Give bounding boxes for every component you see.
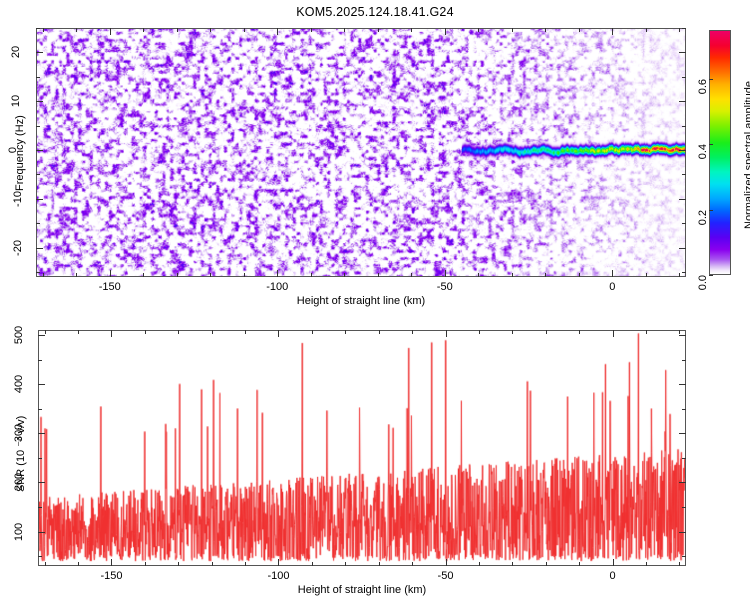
snr-y-tick-label: 400 [13,375,25,393]
y-minor-tick [36,272,40,273]
colorbar-tick [709,275,713,276]
x-major-tick-top [277,28,278,35]
y-major-tick [36,199,43,200]
colorbar-tick-label: 0.4 [697,144,709,159]
x-major-tick-top [110,28,111,35]
x-minor-tick-top [646,330,647,334]
x-major-tick [445,270,446,277]
snr-y-tick-label: 100 [13,522,25,540]
snr-x-tick-label: -150 [100,570,122,582]
y-major-tick [38,532,45,533]
x-minor-tick [212,562,213,566]
y-major-tick [36,101,43,102]
colorbar-tick-label: 0.0 [697,275,709,290]
x-minor-tick [45,562,46,566]
x-minor-tick-top [76,28,77,32]
y-minor-tick [36,174,40,175]
x-major-tick [111,559,112,566]
spec-x-tick-label: 0 [609,281,615,293]
x-major-tick [278,559,279,566]
snr-canvas [39,331,685,565]
x-minor-tick-top [45,330,46,334]
x-minor-tick-top [512,28,513,32]
x-minor-tick-top [478,28,479,32]
x-minor-tick-top [379,330,380,334]
snr-x-tick-label: -100 [267,570,289,582]
colorbar[interactable] [709,30,731,275]
spec-x-tick-label: -50 [437,281,453,293]
x-minor-tick-top [579,28,580,32]
snr-y-axis-title: SNR (10 ⁻⁶ v/v) [14,416,27,492]
x-major-tick-top [612,28,613,35]
x-minor-tick [76,273,77,277]
x-minor-tick [646,273,647,277]
x-minor-tick [679,562,680,566]
x-minor-tick [546,562,547,566]
colorbar-tick-label: 0.6 [697,79,709,94]
y-minor-tick-right [682,556,686,557]
x-minor-tick-top [178,330,179,334]
x-minor-tick [143,273,144,277]
x-minor-tick-top [411,28,412,32]
x-minor-tick-top [479,330,480,334]
y-major-tick-right [679,384,686,385]
x-minor-tick-top [210,28,211,32]
x-minor-tick [646,562,647,566]
x-minor-tick-top [177,28,178,32]
y-major-tick [38,482,45,483]
y-minor-tick-right [682,77,686,78]
x-major-tick-top [613,330,614,337]
x-minor-tick-top [78,330,79,334]
snr-panel[interactable] [38,330,686,566]
x-minor-tick [478,273,479,277]
spectrogram-panel[interactable] [36,28,686,277]
x-major-tick [612,270,613,277]
spec-y-tick-label: 20 [10,46,22,58]
y-minor-tick [36,77,40,78]
x-major-tick [110,270,111,277]
x-minor-tick-top [345,330,346,334]
y-minor-tick-right [682,174,686,175]
x-minor-tick [378,273,379,277]
x-minor-tick [411,273,412,277]
spec-y-tick-label: 10 [10,95,22,107]
x-minor-tick [379,562,380,566]
y-major-tick-right [679,482,686,483]
spec-x-tick-label: -150 [99,281,121,293]
x-minor-tick [43,273,44,277]
y-minor-tick-right [682,507,686,508]
spectrogram-canvas [37,29,685,276]
x-minor-tick-top [311,28,312,32]
x-minor-tick [145,562,146,566]
x-minor-tick-top [244,28,245,32]
colorbar-tick [709,79,713,80]
y-major-tick [36,150,43,151]
y-minor-tick [38,409,42,410]
spec-y-tick-label: -10 [12,191,24,207]
snr-x-tick-label: -50 [438,570,454,582]
x-minor-tick-top [212,330,213,334]
colorbar-tick-label: 0.2 [697,210,709,225]
x-minor-tick-top [512,330,513,334]
x-major-tick-top [111,330,112,337]
x-minor-tick [579,273,580,277]
y-major-tick [38,335,45,336]
spectrogram-y-axis-title: Frequency (Hz) [14,115,26,191]
x-minor-tick [512,273,513,277]
x-major-tick-top [445,28,446,35]
y-major-tick-right [679,335,686,336]
page-title: KOM5.2025.124.18.41.G24 [0,5,750,19]
y-major-tick-right [679,433,686,434]
y-minor-tick [36,28,40,29]
y-minor-tick-right [682,272,686,273]
y-minor-tick-right [682,28,686,29]
y-minor-tick [38,458,42,459]
snr-x-tick-label: 0 [609,570,615,582]
y-minor-tick-right [682,360,686,361]
x-minor-tick-top [378,28,379,32]
x-minor-tick [312,562,313,566]
x-minor-tick [344,273,345,277]
spectrogram-x-axis-title: Height of straight line (km) [297,295,425,307]
colorbar-tick [709,210,713,211]
x-major-tick [446,559,447,566]
x-major-tick-top [446,330,447,337]
y-major-tick-right [679,52,686,53]
x-minor-tick [244,273,245,277]
x-minor-tick-top [679,330,680,334]
x-minor-tick-top [245,330,246,334]
x-minor-tick-top [646,28,647,32]
y-major-tick-right [679,150,686,151]
y-minor-tick [36,126,40,127]
x-minor-tick [245,562,246,566]
y-major-tick [38,384,45,385]
y-major-tick-right [679,101,686,102]
snr-x-axis-title: Height of straight line (km) [298,584,426,596]
x-minor-tick-top [579,330,580,334]
y-major-tick-right [679,199,686,200]
x-minor-tick-top [312,330,313,334]
x-minor-tick [579,562,580,566]
snr-y-tick-label: 500 [13,326,25,344]
x-minor-tick [412,562,413,566]
y-major-tick [36,248,43,249]
x-minor-tick [512,562,513,566]
x-minor-tick-top [145,330,146,334]
x-minor-tick-top [344,28,345,32]
y-minor-tick-right [682,409,686,410]
x-major-tick-top [278,330,279,337]
spec-x-tick-label: -100 [266,281,288,293]
y-minor-tick-right [682,126,686,127]
colorbar-title: Normalized spectral amplitude [743,81,750,229]
spec-y-tick-label: -20 [12,240,24,256]
x-minor-tick [178,562,179,566]
x-minor-tick [311,273,312,277]
x-minor-tick [479,562,480,566]
x-minor-tick-top [412,330,413,334]
y-minor-tick [36,223,40,224]
y-minor-tick [38,507,42,508]
y-minor-tick-right [682,458,686,459]
x-minor-tick [210,273,211,277]
x-minor-tick-top [545,28,546,32]
x-minor-tick-top [43,28,44,32]
x-minor-tick [679,273,680,277]
x-minor-tick-top [143,28,144,32]
x-major-tick [613,559,614,566]
y-major-tick [38,433,45,434]
x-major-tick [277,270,278,277]
y-minor-tick-right [682,223,686,224]
x-minor-tick [545,273,546,277]
x-minor-tick-top [679,28,680,32]
y-major-tick [36,52,43,53]
x-minor-tick-top [546,330,547,334]
x-minor-tick [177,273,178,277]
x-minor-tick [345,562,346,566]
y-major-tick-right [679,248,686,249]
colorbar-tick [709,144,713,145]
y-minor-tick [38,360,42,361]
x-minor-tick [78,562,79,566]
y-minor-tick [38,556,42,557]
y-major-tick-right [679,532,686,533]
